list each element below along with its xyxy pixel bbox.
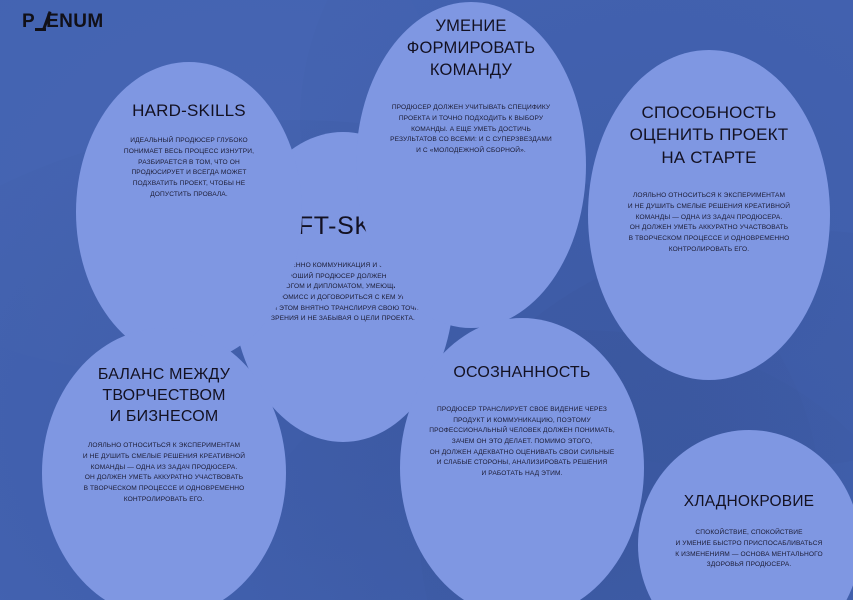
bubble-body: ЛОЯЛЬНО ОТНОСИТЬСЯ К ЭКСПЕРИМЕНТАМ И НЕ …: [63, 441, 265, 505]
bubble-title: БАЛАНС МЕЖДУ ТВОРЧЕСТВОМ И БИЗНЕСОМ: [98, 364, 230, 427]
bubble-composure[interactable]: ХЛАДНОКРОВИЕ СПОКОЙСТВИЕ, СПОКОЙСТВИЕ И …: [638, 430, 853, 600]
infographic-canvas: P ENUM HARD-SKILLS ИДЕАЛЬНЫЙ ПРОДЮСЕР ГЛ…: [0, 0, 853, 600]
bubble-body: СПОКОЙСТВИЕ, СПОКОЙСТВИЕ И УМЕНИЕ БЫСТРО…: [653, 528, 845, 571]
brand-logo: P ENUM: [22, 12, 104, 31]
bubble-awareness[interactable]: ОСОЗНАННОСТЬ ПРОДЮСЕР ТРАНСЛИРУЕТ СВОЕ В…: [400, 318, 644, 600]
logo-letters-enum: ENUM: [46, 12, 104, 31]
bubble-title: ХЛАДНОКРОВИЕ: [684, 492, 814, 512]
bubble-project-assessment[interactable]: СПОСОБНОСТЬ ОЦЕНИТЬ ПРОЕКТ НА СТАРТЕ ЛОЯ…: [588, 50, 830, 380]
bubble-title: HARD-SKILLS: [132, 100, 246, 122]
bubble-body: ПРОДЮСЕР ТРАНСЛИРУЕТ СВОЕ ВИДЕНИЕ ЧЕРЕЗ …: [409, 405, 635, 480]
bubble-hard-skills[interactable]: HARD-SKILLS ИДЕАЛЬНЫЙ ПРОДЮСЕР ГЛУБОКО П…: [76, 62, 302, 362]
bubble-body: ПРОДЮСЕР ДОЛЖЕН УЧИТЫВАТЬ СПЕЦИФИКУ ПРОЕ…: [369, 103, 573, 156]
bubble-team-building[interactable]: УМЕНИЕ ФОРМИРОВАТЬ КОМАНДУ ПРОДЮСЕР ДОЛЖ…: [356, 2, 586, 328]
bubble-balance[interactable]: БАЛАНС МЕЖДУ ТВОРЧЕСТВОМ И БИЗНЕСОМ ЛОЯЛ…: [42, 328, 286, 600]
logo-letter-p: P: [22, 12, 35, 31]
bubble-body: ИДЕАЛЬНЫЙ ПРОДЮСЕР ГЛУБОКО ПОНИМАЕТ ВЕСЬ…: [100, 136, 278, 200]
logo-letter-l-stylized: [35, 12, 46, 31]
bubble-title: УМЕНИЕ ФОРМИРОВАТЬ КОМАНДУ: [407, 16, 536, 81]
bubble-body: ЛОЯЛЬНО ОТНОСИТЬСЯ К ЭКСПЕРИМЕНТАМ И НЕ …: [609, 191, 809, 255]
bubble-title: СПОСОБНОСТЬ ОЦЕНИТЬ ПРОЕКТ НА СТАРТЕ: [630, 102, 789, 169]
bubble-title: ОСОЗНАННОСТЬ: [453, 362, 590, 383]
